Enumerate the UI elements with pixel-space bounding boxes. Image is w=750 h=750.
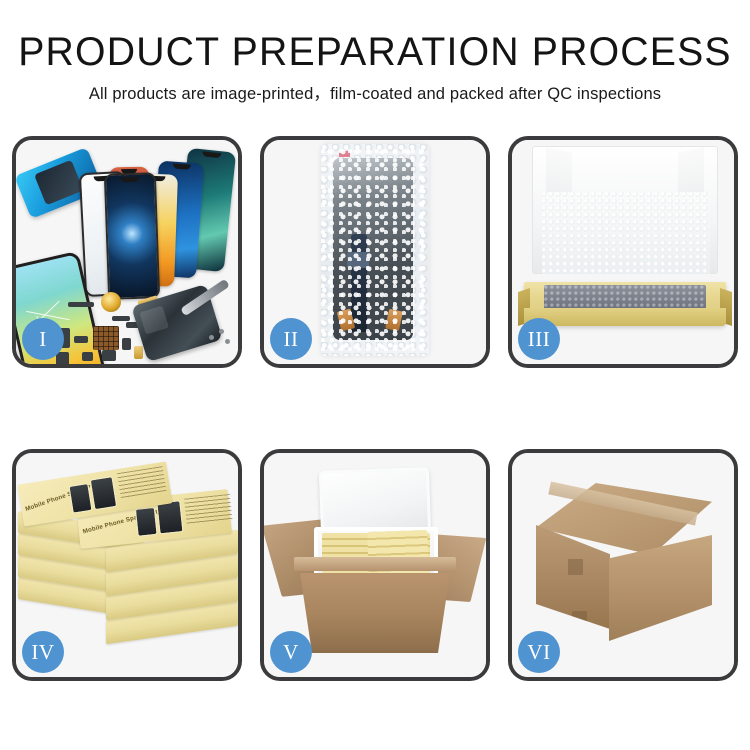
process-step-panel-6: VI bbox=[508, 449, 738, 681]
yellow-box-tray bbox=[524, 282, 726, 326]
spare-part bbox=[56, 352, 69, 366]
spare-part bbox=[122, 338, 131, 350]
phone-artwork bbox=[135, 507, 158, 537]
step-badge-6: VI bbox=[518, 631, 560, 673]
bubble-wrap-bag bbox=[321, 144, 429, 356]
process-step-panel-3: III bbox=[508, 136, 738, 368]
process-step-grid: I II bbox=[12, 136, 738, 681]
screw bbox=[219, 329, 224, 334]
page-subtitle: All products are image-printed，film-coat… bbox=[0, 83, 750, 105]
process-step-panel-5: V bbox=[260, 449, 490, 681]
step-badge-5: V bbox=[270, 631, 312, 673]
foam-padding bbox=[542, 192, 710, 274]
vibration-motor-icon bbox=[101, 292, 121, 312]
spare-part bbox=[82, 352, 93, 361]
chip-board-icon bbox=[93, 326, 119, 350]
spare-part bbox=[74, 336, 88, 343]
header: PRODUCT PREPARATION PROCESS All products… bbox=[0, 30, 750, 105]
process-step-panel-4: Mobile Phone Spare Parts Mobile Phone Sp… bbox=[12, 449, 242, 681]
carton-rim bbox=[294, 557, 456, 571]
phone-artwork bbox=[68, 483, 92, 514]
page-title: PRODUCT PREPARATION PROCESS bbox=[8, 30, 743, 74]
carton-right-face bbox=[609, 535, 712, 641]
bubble-wrapped-contents bbox=[544, 285, 706, 309]
screw bbox=[209, 335, 214, 340]
phone-artwork bbox=[90, 476, 118, 510]
spare-part bbox=[134, 346, 143, 359]
step-badge-1: I bbox=[22, 318, 64, 360]
product-preparation-process-infographic: PRODUCT PREPARATION PROCESS All products… bbox=[0, 0, 750, 750]
phone-screen-dark-blue bbox=[104, 172, 160, 300]
flex-cable bbox=[351, 234, 367, 332]
driver-chip bbox=[347, 252, 369, 268]
step-badge-3: III bbox=[518, 318, 560, 360]
carton-tab bbox=[568, 559, 583, 575]
tray-front-wall bbox=[524, 308, 726, 326]
spare-part bbox=[102, 350, 116, 361]
spare-part bbox=[68, 302, 94, 307]
screw bbox=[225, 339, 230, 344]
process-step-panel-1: I bbox=[12, 136, 242, 368]
box-spec-list bbox=[184, 494, 232, 525]
box-spec-list bbox=[117, 466, 167, 499]
carton-body bbox=[300, 573, 450, 653]
process-step-panel-2: II bbox=[260, 136, 490, 368]
step-badge-4: IV bbox=[22, 631, 64, 673]
phone-artwork bbox=[156, 500, 183, 534]
step-badge-2: II bbox=[270, 318, 312, 360]
qc-label bbox=[339, 151, 350, 157]
spare-part bbox=[112, 316, 130, 321]
carton-tab bbox=[572, 611, 587, 627]
